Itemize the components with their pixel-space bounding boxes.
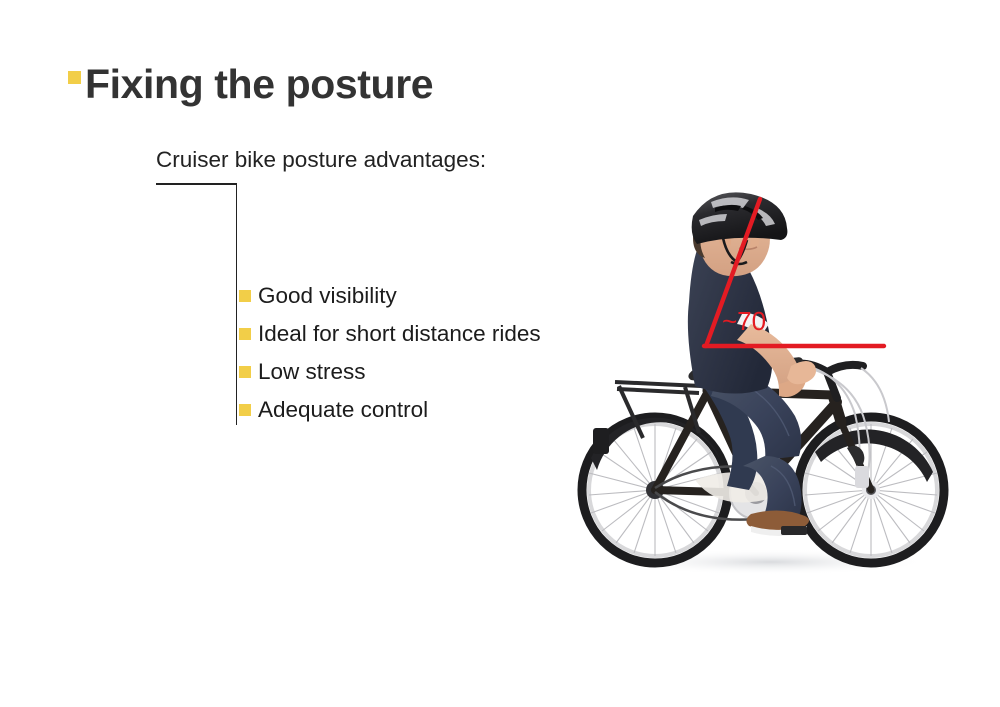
list-item: Good visibility — [239, 283, 541, 309]
advantages-list: Good visibility Ideal for short distance… — [239, 283, 541, 423]
bracket-vertical-rule — [236, 183, 238, 425]
list-item: Ideal for short distance rides — [239, 321, 541, 347]
page-title: Fixing the posture — [85, 62, 433, 106]
list-item-label: Adequate control — [258, 397, 428, 423]
list-item-label: Good visibility — [258, 283, 397, 309]
bracket-horizontal-rule — [156, 183, 237, 185]
bullet-square-icon — [239, 328, 251, 340]
cyclist-photo — [575, 190, 955, 580]
list-item-label: Low stress — [258, 359, 366, 385]
cyclist-illustration — [575, 190, 955, 580]
subtitle: Cruiser bike posture advantages: — [156, 147, 486, 173]
bullet-square-icon — [239, 404, 251, 416]
list-item: Adequate control — [239, 397, 541, 423]
slide-canvas: Fixing the posture Cruiser bike posture … — [0, 0, 1000, 707]
angle-value-label: ~70 — [722, 306, 766, 337]
list-item: Low stress — [239, 359, 541, 385]
title-bullet-square-icon — [68, 71, 81, 84]
page-title-row: Fixing the posture — [68, 62, 433, 106]
bullet-square-icon — [239, 366, 251, 378]
bullet-square-icon — [239, 290, 251, 302]
list-item-label: Ideal for short distance rides — [258, 321, 541, 347]
